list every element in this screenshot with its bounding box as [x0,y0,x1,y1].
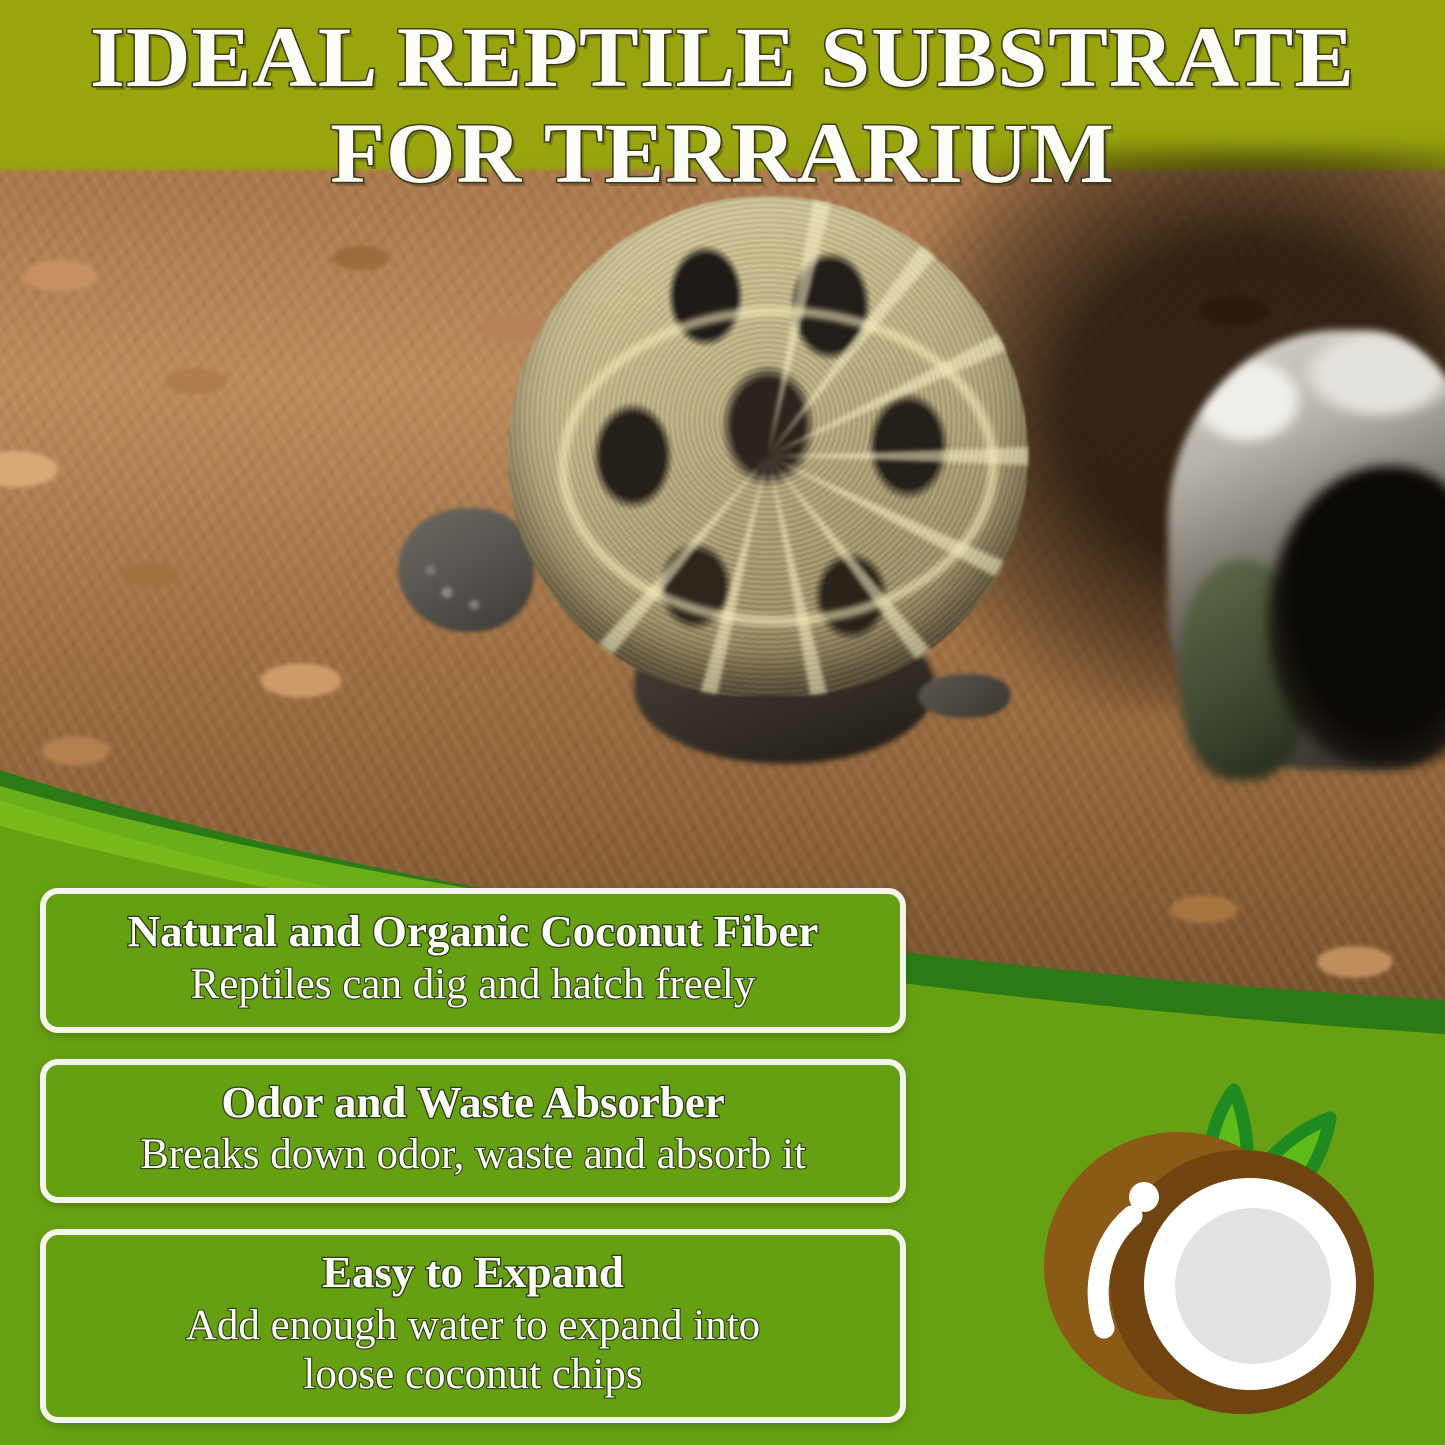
feature-title: Natural and Organic Coconut Fiber [56,908,890,956]
tortoise-leg [398,508,534,632]
feature-description: Reptiles can dig and hatch freely [64,960,882,1009]
feature-box-1: Natural and Organic Coconut Fiber Reptil… [40,888,906,1033]
coconut-highlight-dot [1129,1182,1159,1212]
feature-box-3: Easy to Expand Add enough water to expan… [40,1229,906,1423]
feature-description: Add enough water to expand into loose co… [64,1301,882,1399]
feature-description-line: Breaks down odor, waste and absorb it [64,1130,882,1179]
page-title: IDEAL REPTILE SUBSTRATE FOR TERRARIUM [0,14,1445,196]
title-line-2: FOR TERRARIUM [0,110,1445,196]
feature-description-line: Reptiles can dig and hatch freely [64,960,882,1009]
feature-box-2: Odor and Waste Absorber Breaks down odor… [40,1059,906,1204]
feature-description: Breaks down odor, waste and absorb it [64,1130,882,1179]
feature-title: Easy to Expand [56,1249,890,1297]
product-infographic: IDEAL REPTILE SUBSTRATE FOR TERRARIUM Na… [0,0,1445,1445]
title-line-1: IDEAL REPTILE SUBSTRATE [0,14,1445,100]
feature-description-line: Add enough water to expand into [64,1301,882,1350]
tortoise-shell-band [558,306,998,626]
feature-list: Natural and Organic Coconut Fiber Reptil… [40,888,906,1423]
coconut-inner-cavity [1175,1208,1331,1364]
tortoise [398,186,1098,786]
feature-title: Odor and Waste Absorber [56,1079,890,1127]
coconut-icon [1010,1070,1410,1430]
feature-description-line: loose coconut chips [64,1350,882,1399]
tortoise-claw [918,674,1010,718]
